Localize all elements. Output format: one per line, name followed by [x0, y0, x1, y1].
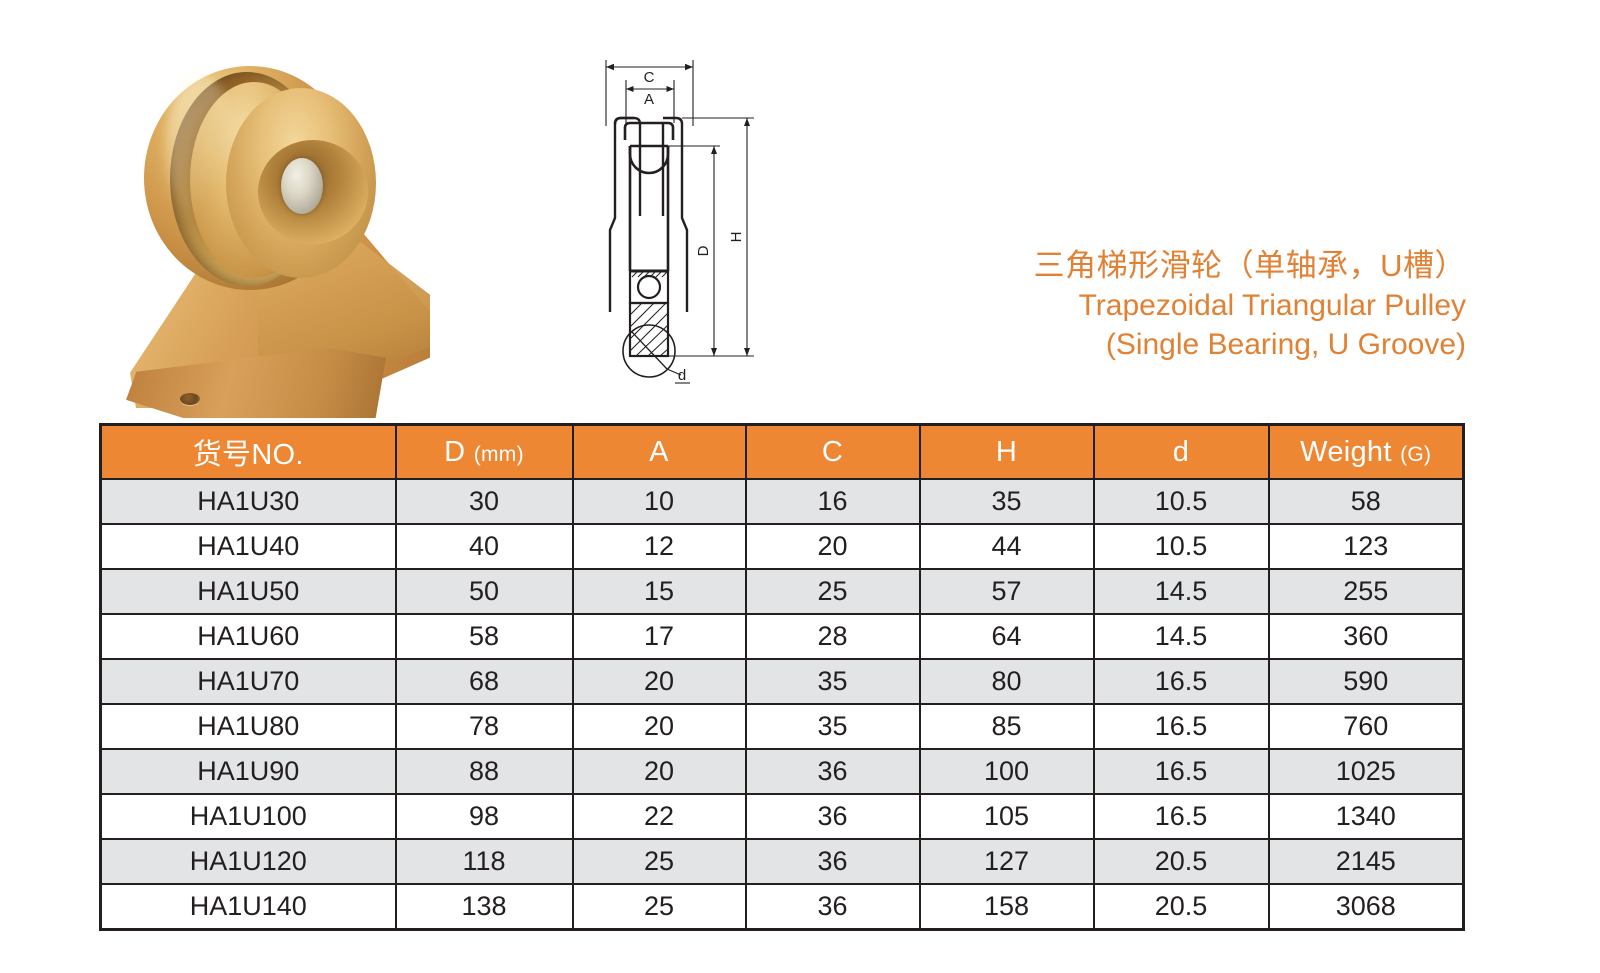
cell-d: 88: [396, 749, 573, 794]
cell-no: HA1U140: [101, 884, 396, 930]
cell-h: 44: [920, 524, 1094, 569]
cell-no: HA1U100: [101, 794, 396, 839]
cell-h: 158: [920, 884, 1094, 930]
cell-c: 20: [746, 524, 920, 569]
table-row: HA1U10098223610516.51340: [101, 794, 1464, 839]
cell-c: 16: [746, 479, 920, 524]
cell-d: 138: [396, 884, 573, 930]
cell-d-minor: 16.5: [1094, 704, 1269, 749]
cell-c: 36: [746, 749, 920, 794]
header-illustration-area: C A: [0, 0, 1600, 410]
column-header-h: H: [920, 425, 1094, 480]
column-header-weight: Weight (G): [1269, 425, 1464, 480]
specification-table-container: 货号NO. D (mm) A C H d Weight (G) HA1U3030…: [99, 423, 1462, 931]
cell-h: 80: [920, 659, 1094, 704]
cell-d: 118: [396, 839, 573, 884]
mounting-hole-icon: [180, 393, 200, 405]
cell-a: 25: [573, 884, 746, 930]
table-row: HA1U120118253612720.52145: [101, 839, 1464, 884]
table-row: HA1U9088203610016.51025: [101, 749, 1464, 794]
column-header-d-label: D: [444, 436, 465, 468]
cell-d-minor: 16.5: [1094, 749, 1269, 794]
table-row: HA1U404012204410.5123: [101, 524, 1464, 569]
cell-no: HA1U90: [101, 749, 396, 794]
specification-table: 货号NO. D (mm) A C H d Weight (G) HA1U3030…: [99, 423, 1465, 931]
cell-d-minor: 10.5: [1094, 524, 1269, 569]
cell-a: 15: [573, 569, 746, 614]
specification-table-body: HA1U303010163510.558HA1U404012204410.512…: [101, 479, 1464, 930]
cell-weight: 3068: [1269, 884, 1464, 930]
cell-d: 50: [396, 569, 573, 614]
cell-no: HA1U50: [101, 569, 396, 614]
dim-label-c: C: [644, 69, 655, 86]
cell-d: 68: [396, 659, 573, 704]
cell-weight: 360: [1269, 614, 1464, 659]
cell-no: HA1U70: [101, 659, 396, 704]
cell-h: 127: [920, 839, 1094, 884]
cell-no: HA1U120: [101, 839, 396, 884]
column-header-c-label: C: [822, 436, 843, 468]
column-header-weight-label: Weight: [1300, 436, 1392, 468]
technical-drawing: C A: [568, 38, 778, 400]
column-header-d-minor-label: d: [1173, 436, 1189, 468]
column-header-d-unit: (mm): [474, 443, 524, 466]
cell-weight: 1025: [1269, 749, 1464, 794]
cell-weight: 590: [1269, 659, 1464, 704]
dim-label-a: A: [644, 91, 654, 108]
cell-c: 35: [746, 704, 920, 749]
cell-d-minor: 20.5: [1094, 884, 1269, 930]
cell-h: 85: [920, 704, 1094, 749]
cell-weight: 123: [1269, 524, 1464, 569]
cell-d-minor: 10.5: [1094, 479, 1269, 524]
product-title-english-1: Trapezoidal Triangular Pulley: [996, 286, 1466, 325]
cell-d: 78: [396, 704, 573, 749]
cell-a: 25: [573, 839, 746, 884]
cell-c: 28: [746, 614, 920, 659]
cell-d-minor: 20.5: [1094, 839, 1269, 884]
cell-weight: 255: [1269, 569, 1464, 614]
cell-d-minor: 16.5: [1094, 659, 1269, 704]
product-photo: [108, 48, 448, 393]
dim-label-d-major: D: [695, 245, 712, 256]
cell-no: HA1U40: [101, 524, 396, 569]
cell-d-minor: 14.5: [1094, 569, 1269, 614]
cell-d: 40: [396, 524, 573, 569]
cell-c: 36: [746, 839, 920, 884]
cell-weight: 2145: [1269, 839, 1464, 884]
cell-h: 35: [920, 479, 1094, 524]
cell-weight: 58: [1269, 479, 1464, 524]
cell-a: 17: [573, 614, 746, 659]
cell-h: 64: [920, 614, 1094, 659]
cell-a: 10: [573, 479, 746, 524]
cell-h: 100: [920, 749, 1094, 794]
cell-weight: 760: [1269, 704, 1464, 749]
cell-d-minor: 14.5: [1094, 614, 1269, 659]
cell-no: HA1U80: [101, 704, 396, 749]
column-header-d-minor: d: [1094, 425, 1269, 480]
cell-c: 36: [746, 794, 920, 839]
cell-d: 58: [396, 614, 573, 659]
cell-d: 98: [396, 794, 573, 839]
cell-h: 105: [920, 794, 1094, 839]
cell-d: 30: [396, 479, 573, 524]
cell-h: 57: [920, 569, 1094, 614]
product-title-chinese: 三角梯形滑轮（单轴承，U槽）: [996, 246, 1466, 286]
axle-bolt-icon: [281, 158, 323, 214]
cell-a: 20: [573, 659, 746, 704]
column-header-no-label: 货号NO.: [193, 439, 304, 471]
cell-a: 20: [573, 704, 746, 749]
table-row: HA1U303010163510.558: [101, 479, 1464, 524]
cell-a: 20: [573, 749, 746, 794]
cell-a: 12: [573, 524, 746, 569]
table-row: HA1U505015255714.5255: [101, 569, 1464, 614]
pulley-photo-icon: [108, 48, 448, 393]
cell-c: 25: [746, 569, 920, 614]
product-title-english-2: (Single Bearing, U Groove): [996, 325, 1466, 364]
dim-label-h: H: [728, 232, 745, 243]
column-header-h-label: H: [996, 436, 1017, 468]
cell-a: 22: [573, 794, 746, 839]
dim-label-d-minor: d: [678, 367, 686, 384]
cell-weight: 1340: [1269, 794, 1464, 839]
column-header-a: A: [573, 425, 746, 480]
cell-d-minor: 16.5: [1094, 794, 1269, 839]
column-header-weight-unit: (G): [1400, 443, 1431, 466]
product-title-block: 三角梯形滑轮（单轴承，U槽） Trapezoidal Triangular Pu…: [996, 246, 1466, 364]
column-header-no: 货号NO.: [101, 425, 396, 480]
cell-c: 35: [746, 659, 920, 704]
table-row: HA1U706820358016.5590: [101, 659, 1464, 704]
column-header-c: C: [746, 425, 920, 480]
table-header-row: 货号NO. D (mm) A C H d Weight (G): [101, 425, 1464, 480]
cell-no: HA1U60: [101, 614, 396, 659]
table-row: HA1U140138253615820.53068: [101, 884, 1464, 930]
column-header-a-label: A: [649, 436, 669, 468]
column-header-d: D (mm): [396, 425, 573, 480]
table-row: HA1U807820358516.5760: [101, 704, 1464, 749]
table-row: HA1U605817286414.5360: [101, 614, 1464, 659]
cell-no: HA1U30: [101, 479, 396, 524]
cell-c: 36: [746, 884, 920, 930]
